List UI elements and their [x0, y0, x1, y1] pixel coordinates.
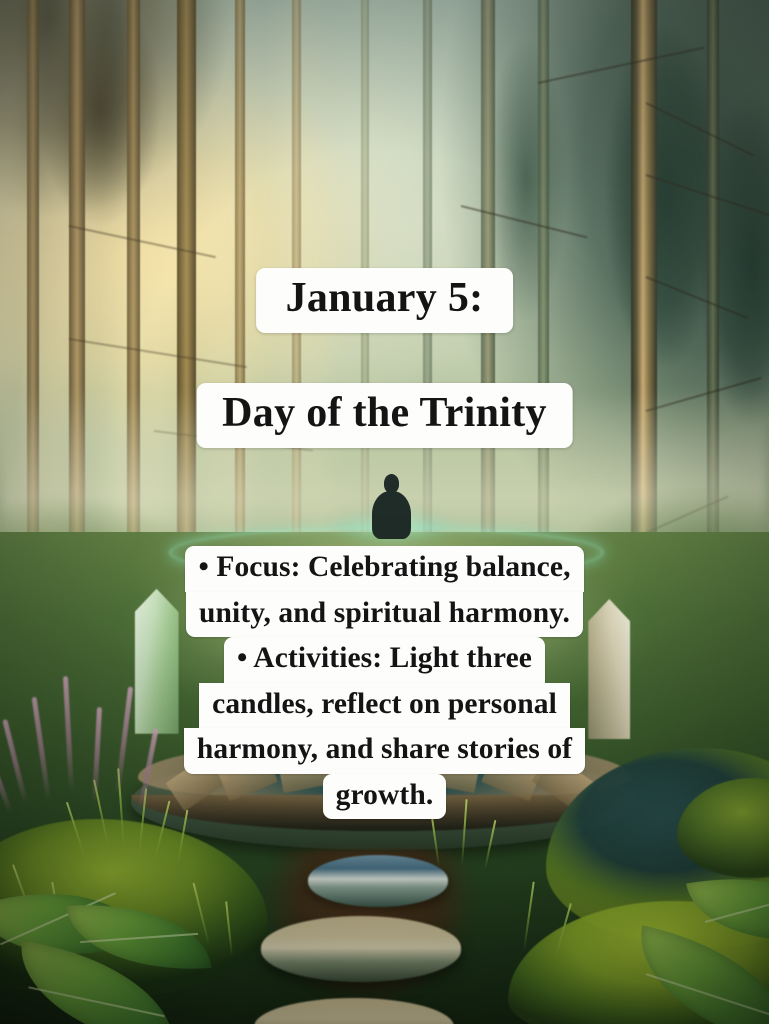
body-line: • Activities: Light three [224, 637, 545, 683]
crystal-right [588, 599, 630, 739]
foreground-leaf [67, 896, 212, 978]
stepping-stone-mid [261, 916, 461, 982]
title-line-2: Day of the Trinity [196, 383, 573, 448]
title-line-1: January 5: [256, 268, 514, 333]
body-line: harmony, and share stories of [184, 728, 585, 774]
stepping-stone-far [308, 855, 448, 907]
forest-scene-background [0, 0, 769, 1024]
conifer-tree-left-1 [15, 0, 185, 259]
poster: January 5: Day of the Trinity • Focus: C… [0, 0, 769, 1024]
body-line: unity, and spiritual harmony. [186, 592, 583, 638]
body-line: candles, reflect on personal [199, 683, 570, 729]
body-line: • Focus: Celebrating balance, [185, 546, 583, 592]
body-line: growth. [323, 774, 447, 820]
meditating-figure-silhouette [371, 474, 413, 537]
crystal-left [135, 589, 179, 734]
